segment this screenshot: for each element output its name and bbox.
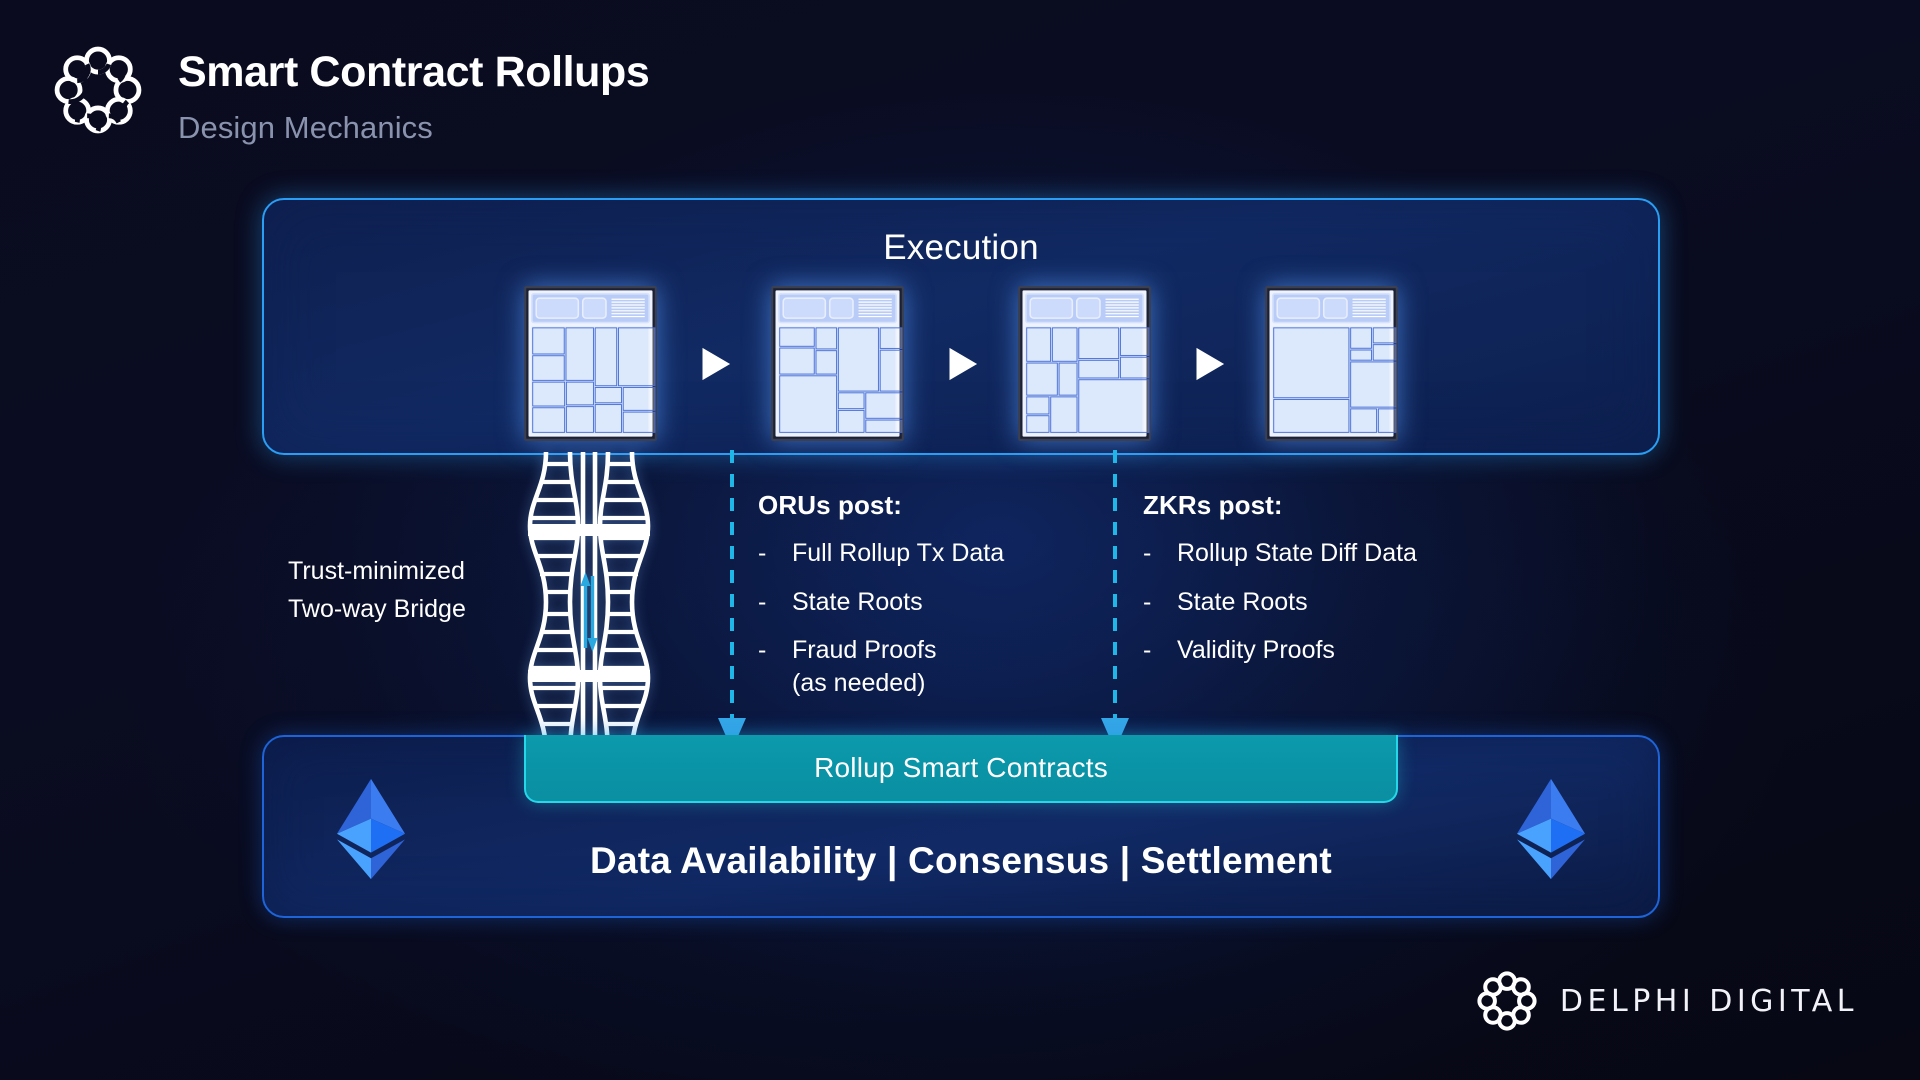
list-item: -Fraud Proofs (as needed)	[758, 634, 1004, 699]
list-dash: -	[1143, 634, 1157, 667]
zkr-post-list: -Rollup State Diff Data-State Roots-Vali…	[1143, 537, 1417, 667]
suspension-bridge-icon	[524, 452, 654, 752]
list-item-label: State Roots	[1177, 586, 1308, 619]
rollup-block-icon	[771, 286, 904, 441]
list-item-label: Rollup State Diff Data	[1177, 537, 1417, 570]
list-dash: -	[758, 537, 772, 570]
bridge-label-line1: Trust-minimized	[288, 552, 518, 590]
rollup-smart-contracts-bar: Rollup Smart Contracts	[524, 735, 1398, 803]
list-dash: -	[758, 586, 772, 619]
rollup-smart-contracts-label: Rollup Smart Contracts	[814, 752, 1108, 784]
list-item: -Validity Proofs	[1143, 634, 1417, 667]
bridge-label-line2: Two-way Bridge	[288, 590, 518, 628]
list-item-label: Full Rollup Tx Data	[792, 537, 1004, 570]
list-item-label: Fraud Proofs (as needed)	[792, 634, 937, 699]
block-sequence	[264, 286, 1658, 441]
bridge-label: Trust-minimized Two-way Bridge	[288, 552, 518, 628]
list-item: -State Roots	[1143, 586, 1417, 619]
page-subtitle: Design Mechanics	[178, 110, 649, 146]
play-triangle-icon	[691, 341, 737, 387]
execution-title: Execution	[264, 228, 1658, 268]
rollup-block-icon	[524, 286, 657, 441]
zkr-post-group: ZKRs post: -Rollup State Diff Data-State…	[1143, 490, 1417, 683]
oru-post-heading: ORUs post:	[758, 490, 1004, 521]
header: Smart Contract Rollups Design Mechanics	[52, 38, 649, 146]
footer-wordmark: DELPHI DIGITAL	[1560, 984, 1858, 1019]
list-dash: -	[1143, 537, 1157, 570]
settlement-label: Data Availability | Consensus | Settleme…	[264, 840, 1658, 882]
list-item: -Full Rollup Tx Data	[758, 537, 1004, 570]
oru-post-list: -Full Rollup Tx Data-State Roots-Fraud P…	[758, 537, 1004, 699]
list-item: -State Roots	[758, 586, 1004, 619]
header-text-block: Smart Contract Rollups Design Mechanics	[178, 38, 649, 146]
zkr-post-heading: ZKRs post:	[1143, 490, 1417, 521]
rollup-block-icon	[1265, 286, 1398, 441]
play-triangle-icon	[938, 341, 984, 387]
delphi-chain-ring-icon	[52, 44, 144, 136]
list-dash: -	[758, 634, 772, 699]
dashed-down-arrow-icon-oru	[715, 450, 749, 752]
footer-brand: DELPHI DIGITAL	[1476, 970, 1858, 1032]
list-item-label: State Roots	[792, 586, 923, 619]
rollup-block-icon	[1018, 286, 1151, 441]
list-item: -Rollup State Diff Data	[1143, 537, 1417, 570]
delphi-chain-ring-icon-footer	[1476, 970, 1538, 1032]
oru-post-group: ORUs post: -Full Rollup Tx Data-State Ro…	[758, 490, 1004, 715]
list-item-label: Validity Proofs	[1177, 634, 1335, 667]
execution-panel: Execution	[262, 198, 1660, 455]
list-dash: -	[1143, 586, 1157, 619]
play-triangle-icon	[1185, 341, 1231, 387]
page-title: Smart Contract Rollups	[178, 50, 649, 95]
dashed-down-arrow-icon-zkr	[1098, 450, 1132, 752]
